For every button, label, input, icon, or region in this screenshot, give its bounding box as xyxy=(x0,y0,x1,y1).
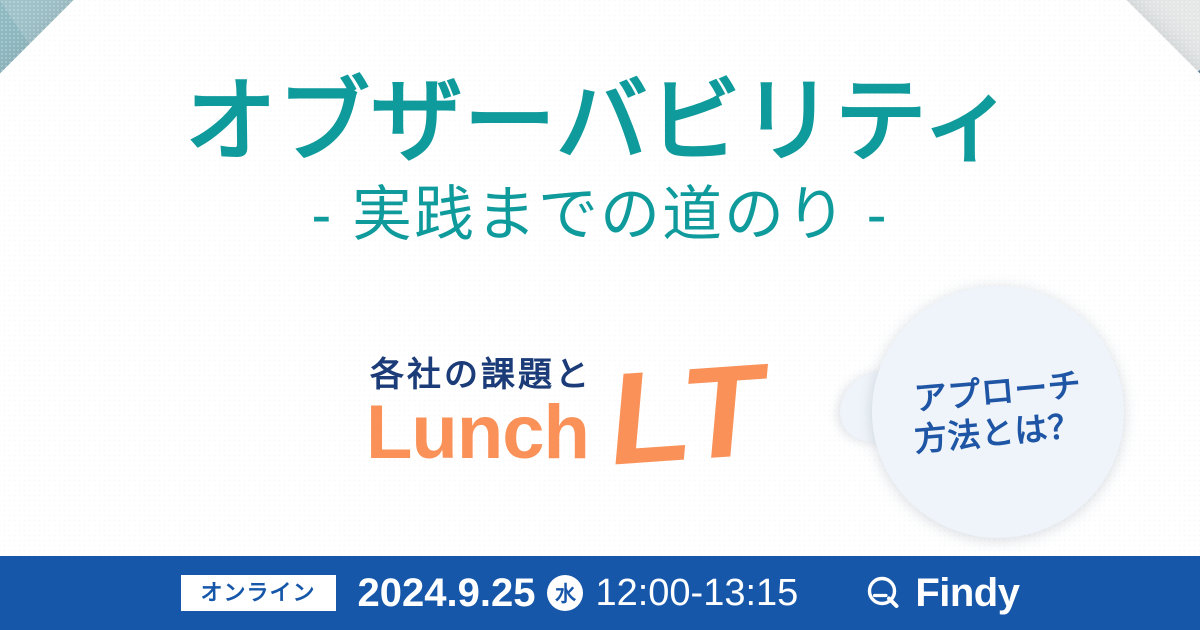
speech-bubble: アプローチ 方法とは？ xyxy=(872,286,1124,538)
weekday-badge: 水 xyxy=(547,575,583,611)
lunch-lt-lockup: 各社の課題と Lunch LT xyxy=(366,358,761,468)
event-time: 12:00-13:15 xyxy=(595,572,798,615)
lunch-stack: 各社の課題と Lunch xyxy=(366,358,592,468)
lt-wordmark: LT xyxy=(606,358,772,472)
brand-name: Findy xyxy=(915,571,1019,616)
footer-bar: オンライン 2024.9.25 水 12:00-13:15 Findy xyxy=(0,556,1200,630)
event-datetime: 2024.9.25 水 12:00-13:15 xyxy=(358,571,799,616)
page-subtitle: - 実践までの道のり - xyxy=(311,183,888,246)
page-title: オブザーバビリティ xyxy=(185,74,1016,171)
status-badge: オンライン xyxy=(181,575,336,611)
findy-q-logo-icon xyxy=(864,573,904,613)
lockup-lead-text: 各社の課題と xyxy=(370,358,592,392)
lunch-wordmark: Lunch xyxy=(366,398,589,468)
brand-logo: Findy xyxy=(864,571,1019,616)
event-date: 2024.9.25 xyxy=(358,571,536,616)
banner-content: オブザーバビリティ - 実践までの道のり - 各社の課題と Lunch LT ア… xyxy=(0,0,1200,630)
event-banner: オブザーバビリティ - 実践までの道のり - 各社の課題と Lunch LT ア… xyxy=(0,0,1200,630)
speech-bubble-wrap: アプローチ 方法とは？ xyxy=(872,286,1124,538)
